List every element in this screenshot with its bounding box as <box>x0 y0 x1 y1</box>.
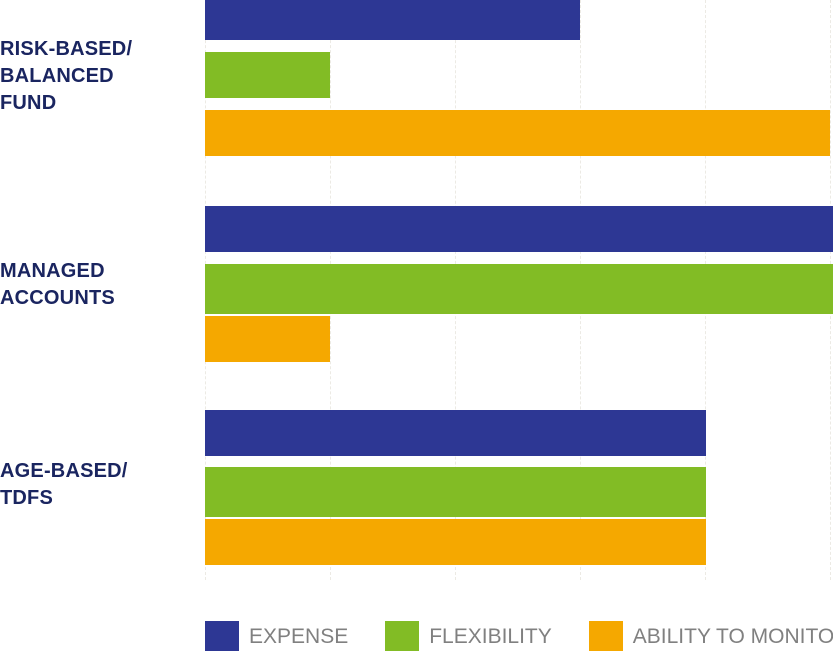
bar-age-based-flexibility[interactable] <box>205 467 706 517</box>
bars-layer <box>205 0 833 580</box>
legend-swatch-icon-flexibility <box>385 621 419 651</box>
bar-risk-based-flexibility[interactable] <box>205 52 330 98</box>
bar-age-based-ability-to-monitor[interactable] <box>205 519 706 565</box>
legend-label-flexibility: FLEXIBILITY <box>429 626 552 647</box>
category-axis-labels: RISK-BASED/ BALANCED FUND MANAGED ACCOUN… <box>0 0 200 580</box>
bar-risk-based-ability-to-monitor[interactable] <box>205 110 830 156</box>
grouped-bar-chart: RISK-BASED/ BALANCED FUND MANAGED ACCOUN… <box>0 0 833 653</box>
category-label-managed-accounts: MANAGED ACCOUNTS <box>0 258 198 312</box>
bar-risk-based-expense[interactable] <box>205 0 580 40</box>
plot-area <box>205 0 833 580</box>
bar-managed-accounts-ability-to-monitor[interactable] <box>205 316 330 362</box>
legend-item-ability-to-monitor[interactable]: ABILITY TO MONITOR <box>589 621 833 651</box>
legend: EXPENSE FLEXIBILITY ABILITY TO MONITOR <box>205 621 833 651</box>
legend-item-flexibility[interactable]: FLEXIBILITY <box>385 621 552 651</box>
bar-managed-accounts-expense[interactable] <box>205 206 833 252</box>
legend-swatch-icon-expense <box>205 621 239 651</box>
bar-age-based-expense[interactable] <box>205 410 706 456</box>
legend-label-expense: EXPENSE <box>249 626 348 647</box>
legend-swatch-icon-ability-to-monitor <box>589 621 623 651</box>
legend-label-ability-to-monitor: ABILITY TO MONITOR <box>633 626 833 647</box>
legend-item-expense[interactable]: EXPENSE <box>205 621 348 651</box>
category-label-age-based: AGE-BASED/ TDFS <box>0 458 198 512</box>
bar-managed-accounts-flexibility[interactable] <box>205 264 833 314</box>
category-label-risk-based: RISK-BASED/ BALANCED FUND <box>0 36 198 117</box>
